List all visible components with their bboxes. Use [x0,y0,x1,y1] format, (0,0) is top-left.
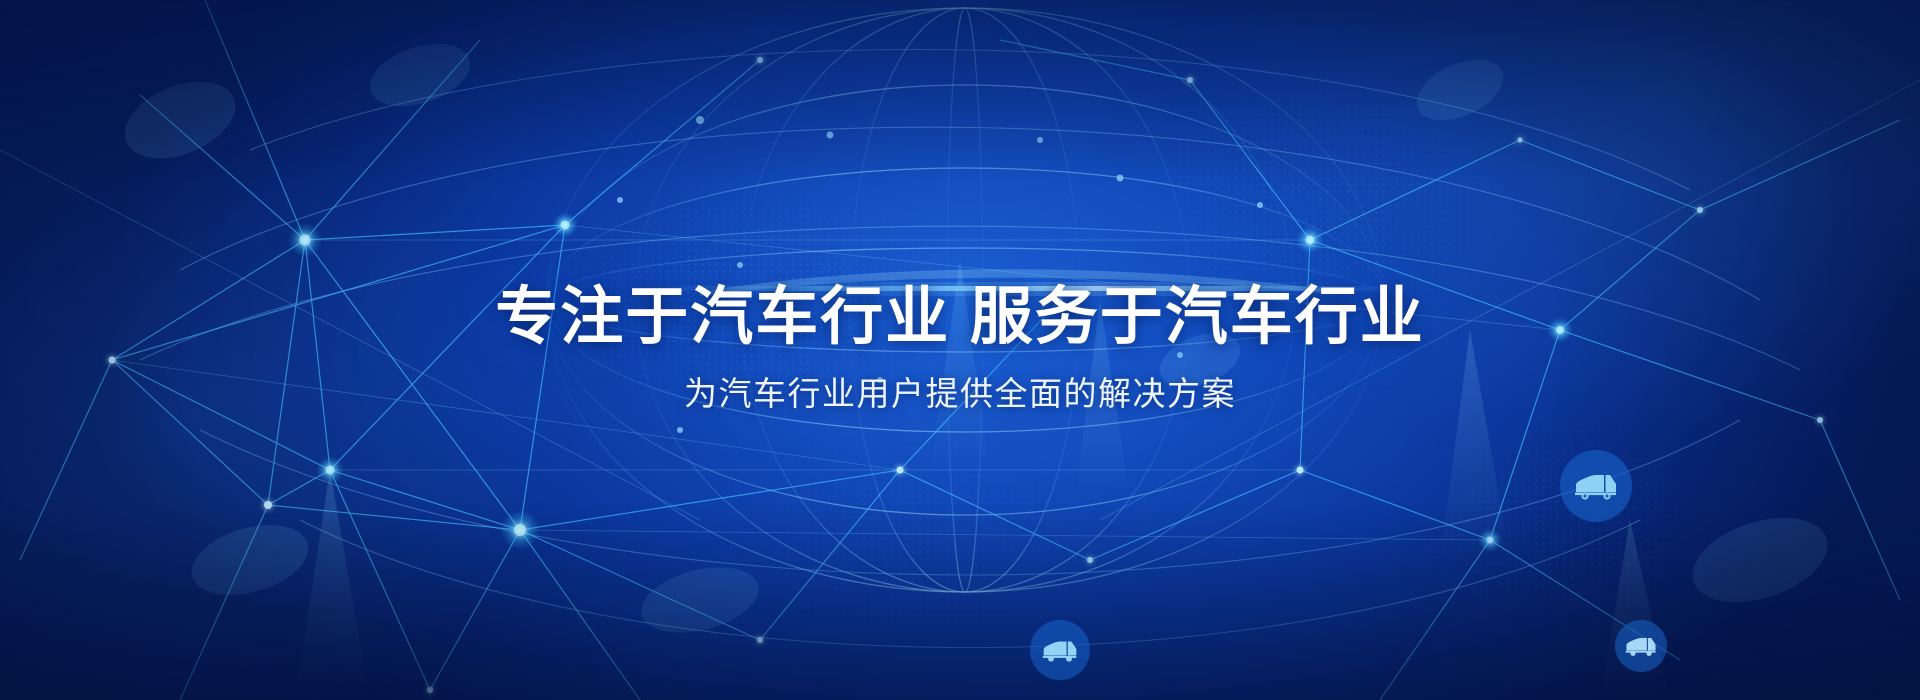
truck-icon [1574,471,1618,501]
page-title: 专注于汽车行业 服务于汽车行业 [0,286,1920,349]
truck-icon [1042,638,1078,663]
truck-badge-right-upper [1560,450,1632,522]
page-subtitle: 为汽车行业用户提供全面的解决方案 [0,377,1920,410]
truck-badge-center [1030,620,1090,680]
truck-badge-right-lower [1615,620,1667,672]
hero-banner: 专注于汽车行业 服务于汽车行业 为汽车行业用户提供全面的解决方案 [0,0,1920,700]
truck-icon [1625,635,1657,657]
